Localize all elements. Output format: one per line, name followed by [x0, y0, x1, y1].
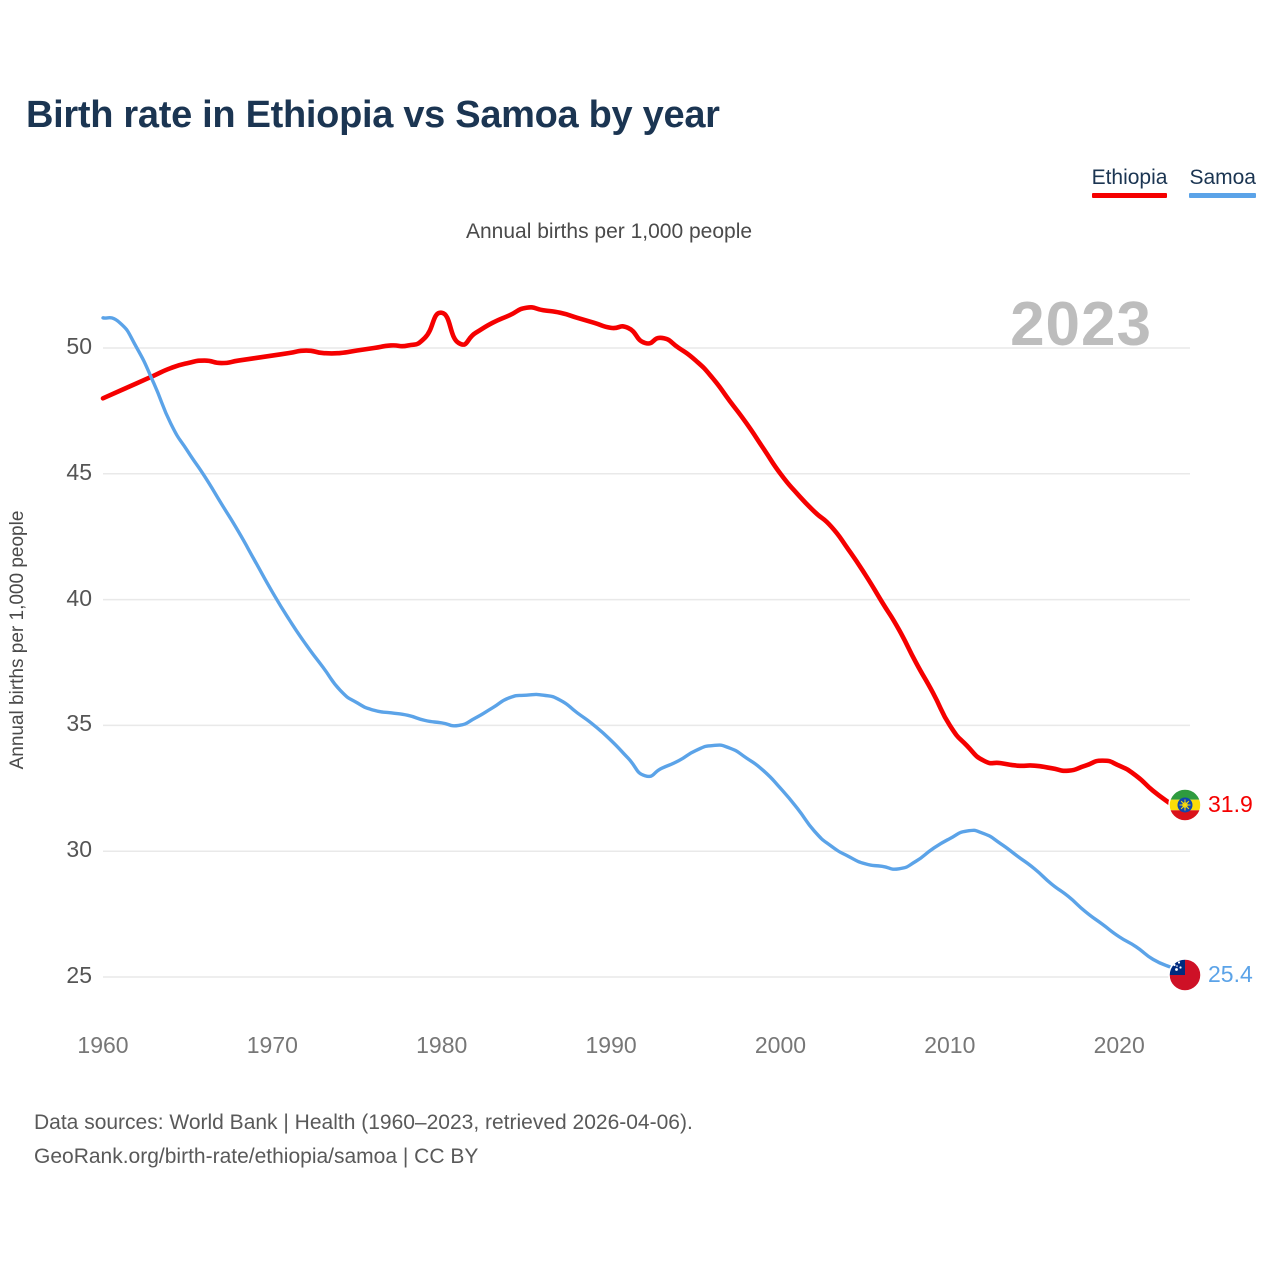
x-tick-label: 2000 — [735, 1032, 825, 1059]
x-tick-label: 1980 — [397, 1032, 487, 1059]
series-line-samoa — [103, 318, 1170, 967]
samoa-flag-icon — [1169, 959, 1201, 991]
x-tick-label: 1990 — [566, 1032, 656, 1059]
footer-line-2: GeoRank.org/birth-rate/ethiopia/samoa | … — [34, 1140, 693, 1174]
series-lines — [103, 307, 1170, 967]
gridlines — [103, 348, 1190, 977]
y-tick-label: 30 — [32, 836, 92, 863]
end-label-samoa: 25.4 — [1208, 961, 1253, 988]
series-line-ethiopia — [103, 307, 1170, 803]
y-tick-label: 45 — [32, 459, 92, 486]
y-tick-label: 35 — [32, 710, 92, 737]
footer-line-1: Data sources: World Bank | Health (1960–… — [34, 1106, 693, 1140]
x-tick-label: 2020 — [1074, 1032, 1164, 1059]
ethiopia-flag-icon — [1169, 789, 1201, 821]
plot-area — [0, 0, 1280, 1280]
end-label-ethiopia: 31.9 — [1208, 791, 1253, 818]
y-tick-label: 50 — [32, 333, 92, 360]
y-tick-label: 40 — [32, 585, 92, 612]
x-tick-label: 1960 — [58, 1032, 148, 1059]
x-tick-label: 1970 — [227, 1032, 317, 1059]
x-tick-label: 2010 — [905, 1032, 995, 1059]
y-tick-label: 25 — [32, 962, 92, 989]
footer: Data sources: World Bank | Health (1960–… — [34, 1106, 693, 1174]
chart-container: Birth rate in Ethiopia vs Samoa by year … — [0, 0, 1280, 1280]
